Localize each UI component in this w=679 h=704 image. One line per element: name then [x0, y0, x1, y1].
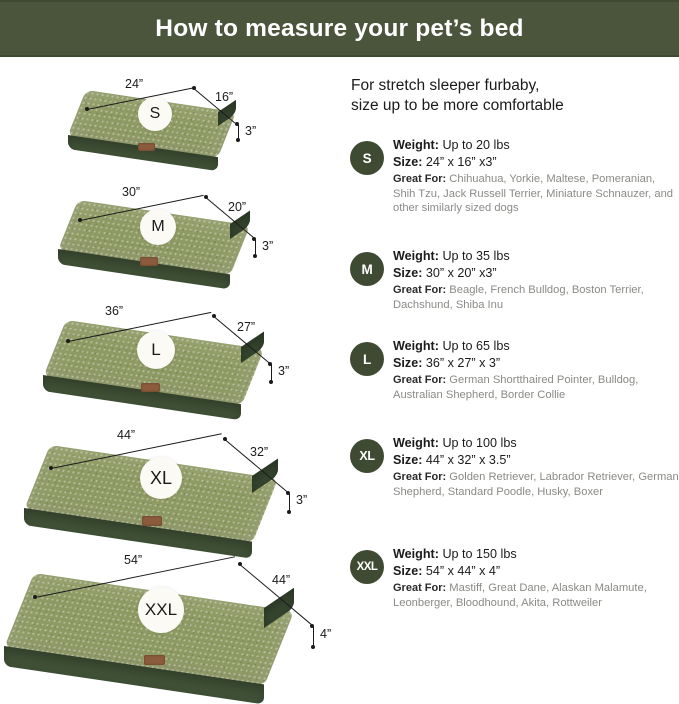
weight-value: Up to 65 lbs	[442, 339, 509, 353]
bed-size-badge-xxl: XXL	[138, 587, 184, 633]
great-for-label: Great For:	[393, 173, 446, 185]
dim-label-height-l: 3”	[278, 364, 289, 378]
dim-label-width-m: 30”	[122, 185, 140, 199]
weight-line: Weight: Up to 20 lbs	[393, 137, 679, 154]
dim-dot-h-bottom	[311, 645, 315, 649]
brand-tag-icon	[144, 655, 165, 665]
page-title: How to measure your pet’s bed	[155, 15, 523, 43]
bed-size-badge-label: S	[150, 105, 161, 123]
dim-tick-height	[289, 494, 290, 511]
size-badge-l: L	[350, 342, 384, 376]
brand-tag-icon	[138, 143, 155, 151]
size-badge-label: M	[361, 262, 372, 277]
weight-value: Up to 35 lbs	[442, 249, 509, 263]
dim-label-width-xxl: 54”	[124, 553, 142, 567]
subtitle: For stretch sleeper furbaby, size up to …	[351, 76, 671, 116]
bed-illustration-s: S 24” 16” 3”	[0, 57, 340, 167]
bed-illustration-xl: XL 44” 32” 3”	[0, 405, 340, 540]
dim-label-depth-s: 16”	[215, 90, 233, 104]
dim-tick-height	[238, 125, 239, 139]
size-label: Size:	[393, 453, 422, 467]
weight-line: Weight: Up to 100 lbs	[393, 435, 679, 452]
size-badge-s: S	[350, 141, 384, 175]
dim-tick-height	[313, 627, 314, 646]
size-value: 24” x 16” x3”	[426, 155, 497, 169]
weight-line: Weight: Up to 150 lbs	[393, 546, 679, 563]
bed-size-badge-xl: XL	[140, 457, 182, 499]
size-value: 54” x 44” x 4”	[426, 564, 500, 578]
dim-label-depth-xl: 32”	[250, 445, 268, 459]
size-entry-body: Weight: Up to 35 lbs Size: 30” x 20” x3”…	[393, 248, 679, 312]
dim-label-height-xl: 3”	[296, 493, 307, 507]
brand-tag-icon	[142, 516, 162, 526]
great-for-label: Great For:	[393, 374, 446, 386]
size-label: Size:	[393, 266, 422, 280]
bed-size-badge-label: M	[151, 218, 164, 236]
bed-illustration-m: M 30” 20” 3”	[0, 165, 340, 280]
weight-label: Weight:	[393, 339, 439, 353]
weight-line: Weight: Up to 65 lbs	[393, 338, 679, 355]
great-for-line: Great For: Beagle, French Bulldog, Bosto…	[393, 283, 679, 312]
great-for-line: Great For: Golden Retriever, Labrador Re…	[393, 470, 679, 499]
size-value: 44” x 32” x 3.5”	[426, 453, 511, 467]
size-entry-body: Weight: Up to 65 lbs Size: 36” x 27” x 3…	[393, 338, 679, 402]
great-for-line: Great For: German Shortthaired Pointer, …	[393, 373, 679, 402]
size-line: Size: 30” x 20” x3”	[393, 265, 679, 282]
dim-label-width-xl: 44”	[117, 428, 135, 442]
size-line: Size: 36” x 27” x 3”	[393, 355, 679, 372]
weight-value: Up to 20 lbs	[442, 138, 509, 152]
bed-illustration-l: L 36” 27” 3”	[0, 282, 340, 407]
dim-tick-height	[271, 365, 272, 381]
weight-label: Weight:	[393, 547, 439, 561]
bed-size-badge-s: S	[138, 97, 172, 131]
dim-label-height-xxl: 4”	[320, 627, 331, 641]
dim-dot-h-bottom	[287, 510, 291, 514]
size-line: Size: 54” x 44” x 4”	[393, 563, 679, 580]
dim-tick-height	[255, 240, 256, 255]
bed-size-badge-label: XXL	[145, 600, 177, 620]
dim-dot-h-bottom	[269, 380, 273, 384]
subtitle-line-2: size up to be more comfortable	[351, 96, 671, 116]
weight-value: Up to 100 lbs	[442, 436, 516, 450]
size-value: 36” x 27” x 3”	[426, 356, 500, 370]
bed-size-badge-label: XL	[150, 468, 172, 489]
dim-dot-h-bottom	[253, 254, 257, 258]
dim-dot-h-bottom	[236, 138, 240, 142]
subtitle-line-1: For stretch sleeper furbaby,	[351, 76, 671, 96]
size-badge-label: S	[363, 151, 372, 166]
brand-tag-icon	[141, 383, 160, 392]
size-line: Size: 44” x 32” x 3.5”	[393, 452, 679, 469]
great-for-label: Great For:	[393, 284, 446, 296]
bed-illustrations-column: S 24” 16” 3” M 30” 20” 3”	[0, 57, 340, 674]
size-badge-label: L	[363, 352, 371, 367]
great-for-line: Great For: Chihuahua, Yorkie, Maltese, P…	[393, 172, 679, 216]
size-badge-xl: XL	[350, 439, 384, 473]
great-for-label: Great For:	[393, 582, 446, 594]
size-badge-xxl: XXL	[350, 550, 384, 584]
great-for-label: Great For:	[393, 471, 446, 483]
size-badge-label: XXL	[357, 561, 378, 573]
weight-label: Weight:	[393, 249, 439, 263]
weight-line: Weight: Up to 35 lbs	[393, 248, 679, 265]
weight-label: Weight:	[393, 138, 439, 152]
size-entry-body: Weight: Up to 100 lbs Size: 44” x 32” x …	[393, 435, 679, 499]
dim-label-depth-xxl: 44”	[272, 573, 290, 587]
size-badge-label: XL	[359, 449, 374, 463]
brand-tag-icon	[140, 257, 158, 266]
weight-value: Up to 150 lbs	[442, 547, 516, 561]
dim-label-width-l: 36”	[105, 304, 123, 318]
bed-size-badge-m: M	[140, 209, 176, 245]
dim-label-depth-m: 20”	[228, 200, 246, 214]
bed-illustration-xxl: XXL 54” 44” 4”	[0, 529, 340, 674]
size-badge-m: M	[350, 252, 384, 286]
weight-label: Weight:	[393, 436, 439, 450]
size-entry-body: Weight: Up to 20 lbs Size: 24” x 16” x3”…	[393, 137, 679, 216]
bed-size-badge-label: L	[151, 340, 160, 360]
size-value: 30” x 20” x3”	[426, 266, 497, 280]
dim-label-depth-l: 27”	[237, 320, 255, 334]
dim-label-height-s: 3”	[245, 124, 256, 138]
size-line: Size: 24” x 16” x3”	[393, 154, 679, 171]
size-entry-body: Weight: Up to 150 lbs Size: 54” x 44” x …	[393, 546, 679, 610]
dim-label-height-m: 3”	[262, 239, 273, 253]
size-label: Size:	[393, 564, 422, 578]
dim-label-width-s: 24”	[125, 77, 143, 91]
header-banner: How to measure your pet’s bed	[0, 0, 679, 57]
size-info-column: For stretch sleeper furbaby, size up to …	[348, 57, 679, 674]
size-label: Size:	[393, 356, 422, 370]
size-label: Size:	[393, 155, 422, 169]
bed-size-badge-l: L	[137, 331, 175, 369]
great-for-line: Great For: Mastiff, Great Dane, Alaskan …	[393, 581, 679, 610]
